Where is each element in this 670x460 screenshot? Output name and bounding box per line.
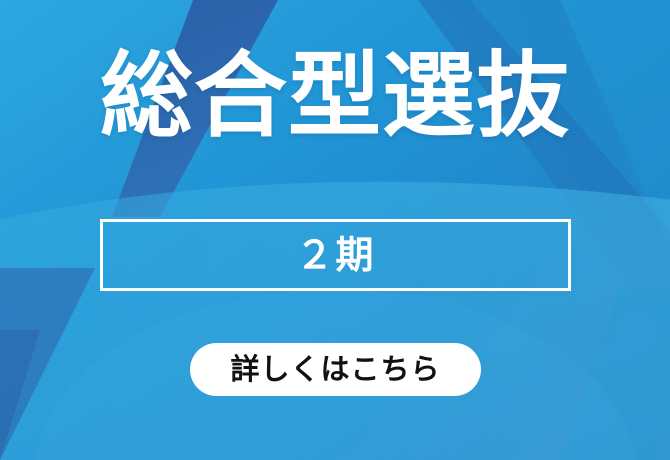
banner-content: 総合型選抜 ２期 詳しくはこちら — [0, 0, 670, 460]
promo-banner: 総合型選抜 ２期 詳しくはこちら — [0, 0, 670, 460]
page-title: 総合型選抜 — [0, 50, 670, 143]
term-box: ２期 — [100, 219, 571, 291]
details-button[interactable]: 詳しくはこちら — [190, 343, 481, 396]
term-label: ２期 — [295, 236, 375, 274]
